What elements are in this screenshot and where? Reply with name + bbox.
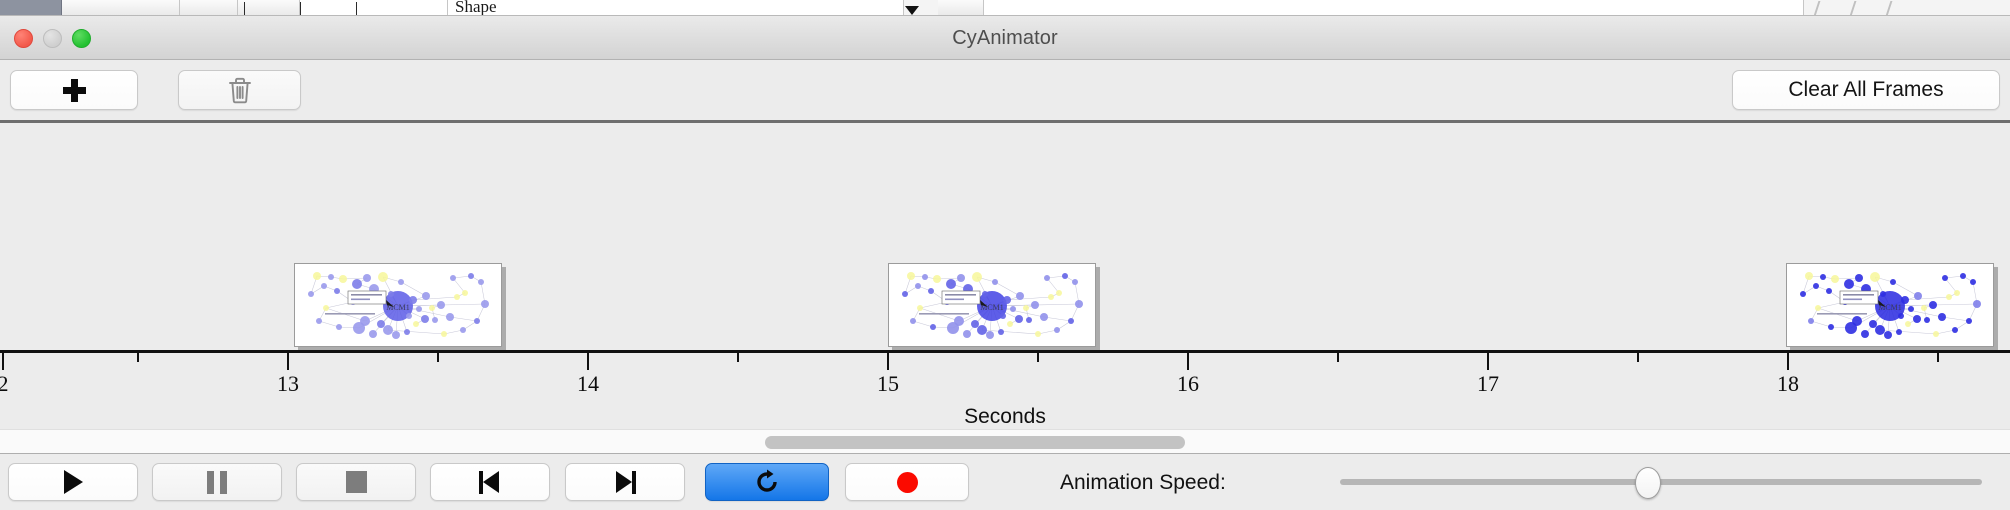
- frame-toolbar: Clear All Frames: [0, 60, 2010, 123]
- axis-minor-tick: [1937, 353, 1939, 362]
- axis-minor-tick: [1637, 353, 1639, 362]
- add-frame-button[interactable]: [10, 70, 138, 110]
- bg-chip: [180, 0, 238, 16]
- timeline-axis-title: Seconds: [0, 405, 2010, 429]
- bg-chip: [0, 0, 62, 16]
- axis-tick-label: 14: [577, 371, 599, 397]
- timeline-horizontal-scrollbar[interactable]: [0, 429, 2010, 454]
- play-icon: [64, 470, 83, 494]
- speed-slider-thumb[interactable]: [1635, 467, 1661, 499]
- skip-forward-icon: [614, 471, 636, 494]
- timeline-axis-line: [0, 350, 2010, 353]
- trash-icon: [227, 76, 253, 104]
- timeline-panel[interactable]: MCM1MCM1MCM1 2131415161718 Seconds: [0, 123, 2010, 429]
- stop-icon: [346, 471, 367, 493]
- bg-slash: [1850, 1, 1857, 16]
- frame-thumbnail-1[interactable]: MCM1: [294, 263, 502, 347]
- play-button[interactable]: [8, 463, 138, 501]
- background-window-strip: Shape: [0, 0, 2010, 16]
- axis-major-tick: [1487, 353, 1489, 370]
- loop-button[interactable]: [705, 463, 829, 501]
- axis-tick-label: 2: [0, 371, 9, 397]
- axis-minor-tick: [1037, 353, 1039, 362]
- axis-tick-label: 18: [1777, 371, 1799, 397]
- bg-tick: [300, 2, 301, 16]
- window-title: CyAnimator: [0, 27, 2010, 50]
- skip-to-last-frame-button[interactable]: [565, 463, 685, 501]
- axis-tick-label: 13: [277, 371, 299, 397]
- bg-tick: [356, 2, 357, 16]
- axis-major-tick: [887, 353, 889, 370]
- cyanimator-window: CyAnimator Clear All Frames MCM1MCM1MCM1…: [0, 16, 2010, 510]
- bg-chip: [448, 0, 904, 16]
- clear-all-frames-label: Clear All Frames: [1788, 78, 1943, 102]
- axis-minor-tick: [1337, 353, 1339, 362]
- axis-major-tick: [2, 353, 4, 370]
- bg-chip: [938, 0, 984, 16]
- pause-icon: [207, 471, 227, 494]
- bg-chip: [238, 0, 300, 16]
- axis-major-tick: [1187, 353, 1189, 370]
- bg-chip: [300, 0, 448, 16]
- axis-tick-label: 15: [877, 371, 899, 397]
- speed-slider-track: [1340, 479, 1982, 485]
- playback-toolbar: Animation Speed:: [0, 454, 2010, 509]
- bg-chip: [984, 0, 1804, 16]
- scrollbar-thumb[interactable]: [765, 436, 1185, 449]
- loop-icon: [754, 469, 780, 495]
- axis-tick-label: 16: [1177, 371, 1199, 397]
- axis-minor-tick: [437, 353, 439, 362]
- axis-major-tick: [1787, 353, 1789, 370]
- frame-network-graph: MCM1: [1787, 264, 1994, 347]
- axis-minor-tick: [137, 353, 139, 362]
- bg-shape-label: Shape: [455, 0, 497, 16]
- axis-minor-tick: [737, 353, 739, 362]
- frame-network-graph: MCM1: [295, 264, 502, 347]
- skip-to-first-frame-button[interactable]: [430, 463, 550, 501]
- bg-caret-icon: [905, 6, 919, 15]
- frame-thumbnail-2[interactable]: MCM1: [888, 263, 1096, 347]
- record-button[interactable]: [845, 463, 969, 501]
- pause-button[interactable]: [152, 463, 282, 501]
- skip-backward-icon: [479, 471, 501, 494]
- frame-thumbnail-3[interactable]: MCM1: [1786, 263, 1994, 347]
- delete-frame-button[interactable]: [178, 70, 301, 110]
- bg-tick: [244, 2, 245, 16]
- record-icon: [897, 472, 918, 493]
- axis-tick-label: 17: [1477, 371, 1499, 397]
- axis-major-tick: [587, 353, 589, 370]
- plus-icon: [63, 79, 86, 102]
- axis-major-tick: [287, 353, 289, 370]
- bg-slash: [1886, 1, 1893, 16]
- animation-speed-label: Animation Speed:: [1060, 471, 1226, 495]
- frame-network-graph: MCM1: [889, 264, 1096, 347]
- animation-speed-slider[interactable]: [1340, 463, 1982, 501]
- bg-chip: [62, 0, 180, 16]
- bg-slash: [1814, 1, 1821, 16]
- stop-button[interactable]: [296, 463, 416, 501]
- clear-all-frames-button[interactable]: Clear All Frames: [1732, 70, 2000, 110]
- window-titlebar: CyAnimator: [0, 16, 2010, 60]
